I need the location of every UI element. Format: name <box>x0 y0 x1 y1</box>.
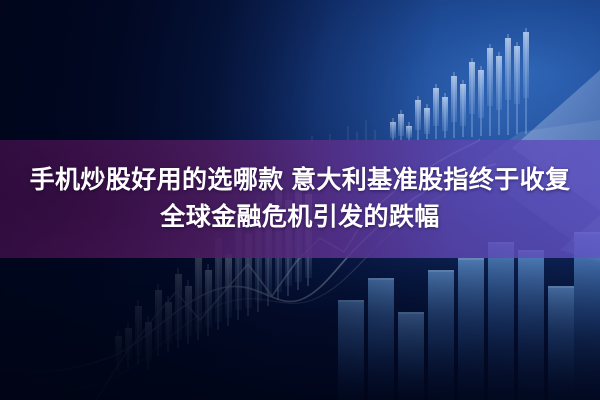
headline-line-2: 全球金融危机引发的跌幅 <box>160 201 439 235</box>
headline-line-1: 手机炒股好用的选哪款 意大利基准股指终于收复 <box>30 164 571 198</box>
news-banner: 手机炒股好用的选哪款 意大利基准股指终于收复 全球金融危机引发的跌幅 <box>0 0 600 400</box>
headline: 手机炒股好用的选哪款 意大利基准股指终于收复 全球金融危机引发的跌幅 <box>0 140 600 258</box>
